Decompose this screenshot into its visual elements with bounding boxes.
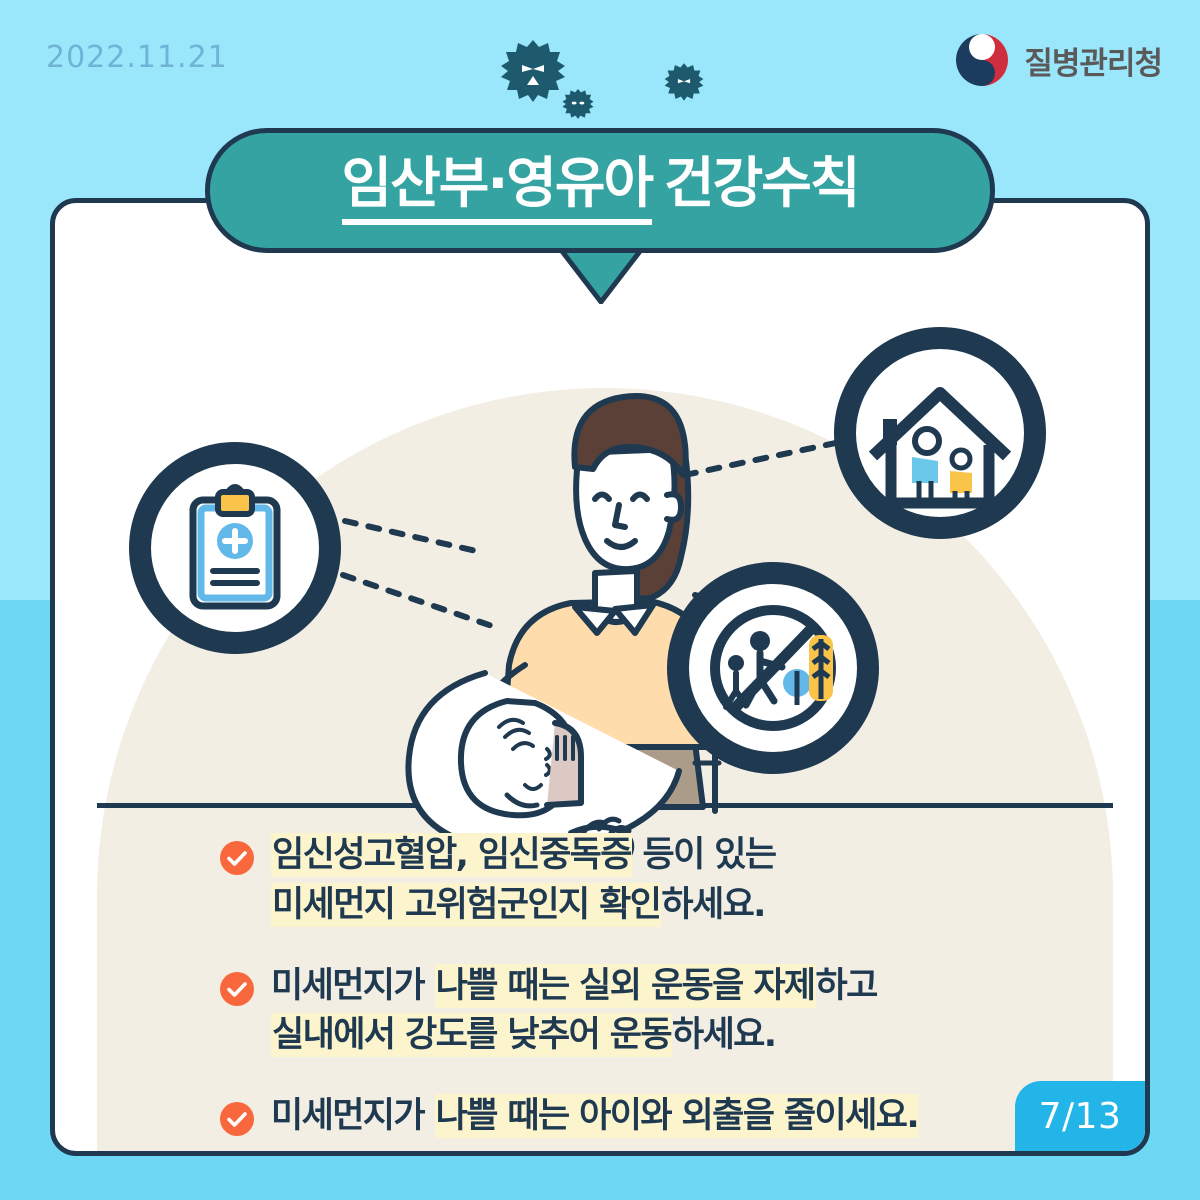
agency-logo: 질병관리청 (954, 32, 1162, 88)
callout-house (845, 338, 1035, 528)
list-item-text: 미세먼지가 나쁠 때는 아이와 외출을 줄이세요. (271, 1094, 919, 1139)
plain-text: 하세요. (661, 885, 765, 925)
list-item-text: 미세먼지가 나쁠 때는 실외 운동을 자제하고 실내에서 강도를 낮추어 운동하… (271, 964, 877, 1059)
taegeuk-logo-icon (954, 32, 1010, 88)
dust-germ-large-icon (500, 38, 566, 104)
plain-text: 등이 있는 (632, 835, 776, 875)
check-circle-icon (220, 841, 254, 875)
highlighted-text: 미세먼지 고위험군인지 확인 (271, 883, 661, 927)
plain-text: 하고 (816, 966, 877, 1006)
callout-no-outdoor (678, 573, 868, 763)
list-item-line: 미세먼지 고위험군인지 확인하세요. (271, 883, 775, 928)
page-indicator: 7/13 (1015, 1081, 1145, 1151)
highlighted-text: 실내에서 강도를 낮추어 운동 (271, 1013, 672, 1057)
medical-clipboard-icon (193, 487, 277, 606)
dust-germ-small-icon (562, 88, 594, 120)
page-title: 임산부·영유아 건강수칙 (342, 156, 859, 225)
date-label: 2022.11.21 (46, 40, 228, 75)
banner-tail (556, 246, 646, 304)
list-item-line: 미세먼지가 나쁠 때는 실외 운동을 자제하고 (271, 964, 877, 1009)
list-item: 미세먼지가 나쁠 때는 실외 운동을 자제하고 실내에서 강도를 낮추어 운동하… (220, 964, 1120, 1059)
infographic-page: 2022.11.21 질병관리청 임산부·영유아 건강수칙 (0, 0, 1200, 1200)
no-outdoor-activity-icon (715, 610, 833, 726)
check-circle-icon (220, 1102, 254, 1136)
list-item-line: 실내에서 강도를 낮추어 운동하세요. (271, 1013, 877, 1058)
title-banner: 임산부·영유아 건강수칙 (205, 128, 995, 253)
health-guidelines-list: 임신성고혈압, 임신중독증 등이 있는 미세먼지 고위험군인지 확인하세요. 미… (220, 833, 1120, 1156)
plain-text: 하세요. (672, 1015, 776, 1055)
plain-text: 미세먼지가 (271, 966, 435, 1006)
mother-holding-baby-illustration (55, 203, 1150, 903)
mother-figure (408, 396, 719, 861)
content-card: 임신성고혈압, 임신중독증 등이 있는 미세먼지 고위험군인지 확인하세요. 미… (50, 198, 1150, 1156)
highlighted-text: 나쁠 때는 실외 운동을 자제 (435, 964, 816, 1008)
highlighted-text: 임신성고혈압, 임신중독증 (271, 833, 632, 877)
dust-germ-medium-icon (664, 62, 704, 102)
list-item-line: 임신성고혈압, 임신중독증 등이 있는 (271, 833, 775, 878)
list-item-line: 미세먼지가 나쁠 때는 아이와 외출을 줄이세요. (271, 1094, 919, 1139)
highlighted-text: 나쁠 때는 아이와 외출을 줄이세요. (435, 1094, 919, 1138)
agency-name-label: 질병관리청 (1024, 38, 1162, 83)
check-circle-icon (220, 972, 254, 1006)
callout-clipboard (140, 453, 330, 643)
list-item: 미세먼지가 나쁠 때는 아이와 외출을 줄이세요. (220, 1094, 1120, 1139)
list-item: 임신성고혈압, 임신중독증 등이 있는 미세먼지 고위험군인지 확인하세요. (220, 833, 1120, 928)
list-item-text: 임신성고혈압, 임신중독증 등이 있는 미세먼지 고위험군인지 확인하세요. (271, 833, 775, 928)
title-underlined-part: 임산부·영유아 (342, 156, 653, 225)
plain-text: 미세먼지가 (271, 1096, 435, 1136)
title-rest-part: 건강수칙 (664, 156, 858, 211)
